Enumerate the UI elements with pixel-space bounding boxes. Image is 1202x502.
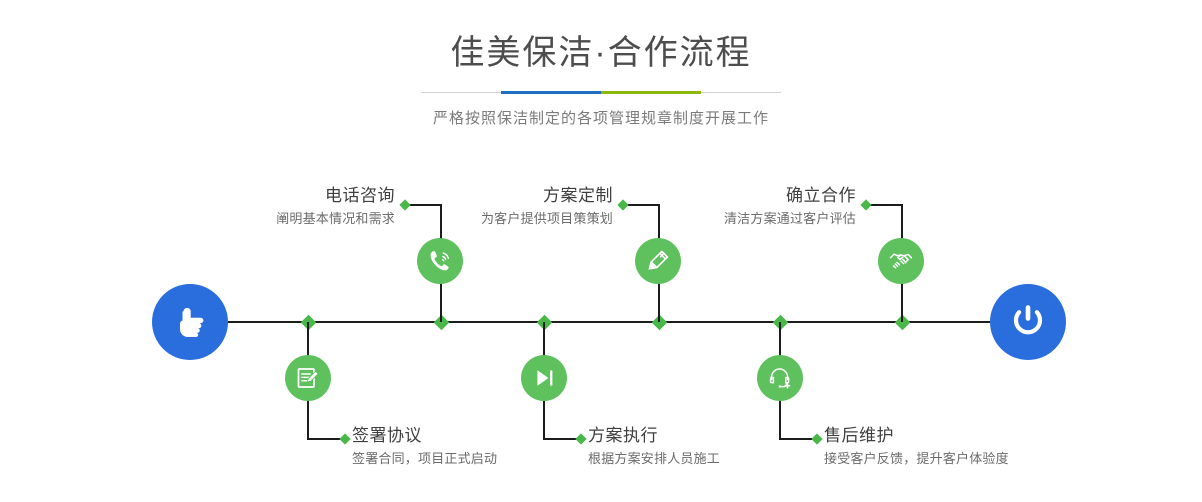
connector-horizontal-step-4 [543,438,579,440]
step-icon-plan-customize[interactable] [635,238,681,284]
connector-horizontal-step-5 [869,204,903,206]
pointing-hand-icon [170,302,210,342]
divider-segment-green [601,91,701,94]
step-label-sign-agreement: 签署协议 签署合同，项目正式启动 [352,425,592,469]
step-title: 电话咨询 [185,185,395,207]
step-label-establish-cooperation: 确立合作 清洁方案通过客户评估 [648,185,856,229]
connector-horizontal-step-6 [779,438,815,440]
label-node-step-3 [617,199,628,210]
title-divider [421,88,781,98]
step-title: 方案定制 [405,185,613,207]
header: 佳美保洁·合作流程 严格按照保洁制定的各项管理规章制度开展工作 [0,30,1202,130]
step-desc: 接受客户反馈，提升客户体验度 [824,449,1084,469]
step-label-plan-customize: 方案定制 为客户提供项目策策划 [405,185,613,229]
divider-segment-blue [501,91,601,94]
step-label-phone-consult: 电话咨询 阐明基本情况和需求 [185,185,395,229]
step-desc: 签署合同，项目正式启动 [352,449,592,469]
handshake-icon [888,248,914,274]
step-desc: 为客户提供项目策策划 [405,209,613,229]
step-desc: 阐明基本情况和需求 [185,209,395,229]
label-node-step-2 [339,433,350,444]
power-button-icon [1007,301,1049,343]
step-icon-after-sales[interactable] [757,355,803,401]
flow-end-node[interactable] [990,284,1066,360]
flow-start-node[interactable] [152,284,228,360]
phone-call-icon [427,248,453,274]
pencil-ruler-icon [645,248,671,274]
connector-horizontal-step-2 [307,438,343,440]
step-title: 签署协议 [352,425,592,447]
step-title: 确立合作 [648,185,856,207]
step-desc: 根据方案安排人员施工 [588,449,828,469]
step-icon-sign-agreement[interactable] [285,355,331,401]
headset-support-icon [767,365,793,391]
label-node-step-5 [860,199,871,210]
step-desc: 清洁方案通过客户评估 [648,209,856,229]
page-subtitle: 严格按照保洁制定的各项管理规章制度开展工作 [0,108,1202,130]
step-title: 售后维护 [824,425,1084,447]
page-title: 佳美保洁·合作流程 [0,30,1202,76]
step-label-plan-execute: 方案执行 根据方案安排人员施工 [588,425,828,469]
step-icon-plan-execute[interactable] [521,355,567,401]
step-icon-phone-consult[interactable] [417,238,463,284]
step-title: 方案执行 [588,425,828,447]
step-label-after-sales: 售后维护 接受客户反馈，提升客户体验度 [824,425,1084,469]
play-execute-icon [531,365,557,391]
cooperation-flow-infographic: 佳美保洁·合作流程 严格按照保洁制定的各项管理规章制度开展工作 [0,0,1202,502]
document-sign-icon [295,365,321,391]
step-icon-establish-cooperation[interactable] [878,238,924,284]
